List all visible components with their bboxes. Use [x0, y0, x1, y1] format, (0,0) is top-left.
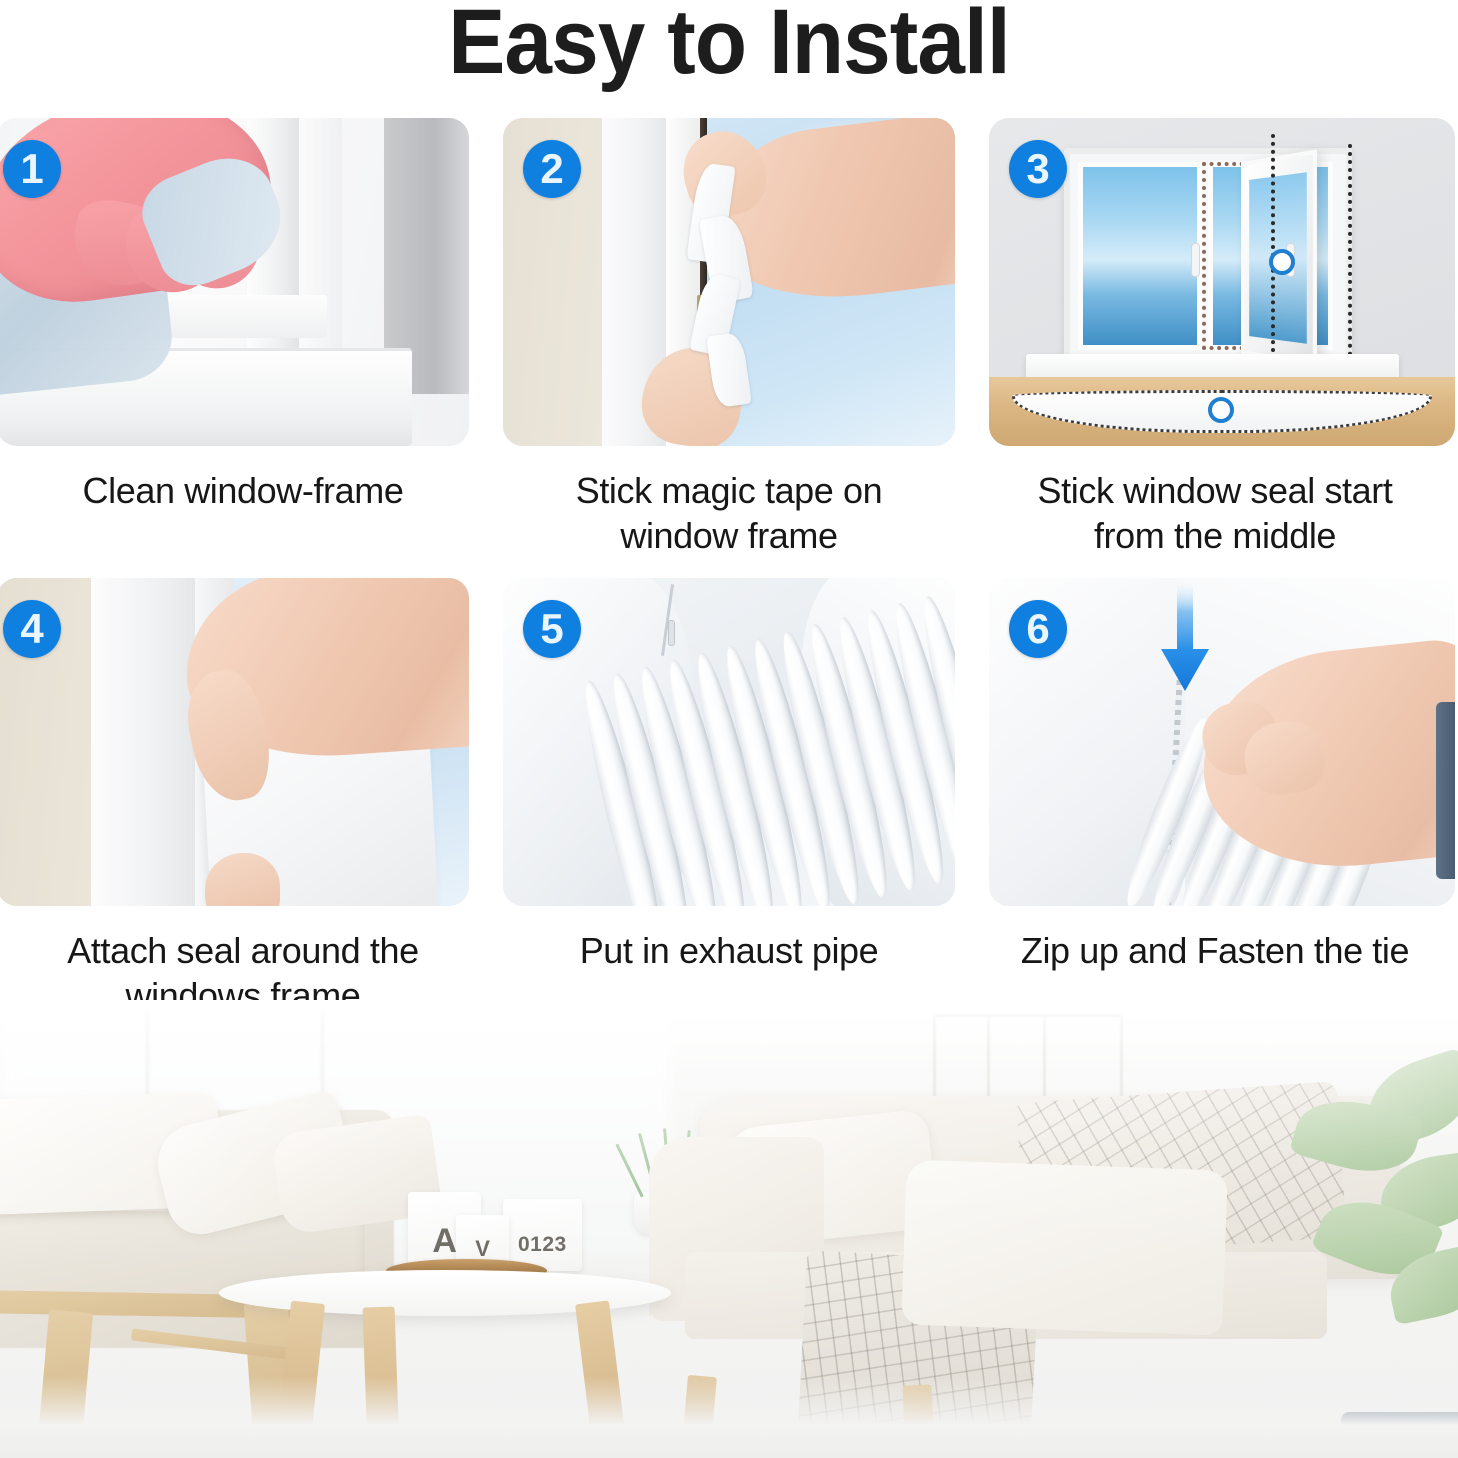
step-5: 5 Put in exhaust pipe: [486, 578, 972, 1019]
hand-pressing-seal-scene: [0, 578, 469, 906]
step-5-badge: 5: [523, 600, 581, 658]
step-3: 3 Stick window seal start from the middl…: [972, 118, 1458, 559]
step-5-caption: Put in exhaust pipe: [509, 928, 949, 973]
step-1-caption: Clean window-frame: [23, 468, 463, 513]
infographic-page: Easy to Install: [0, 0, 1458, 1458]
step-6-caption: Zip up and Fasten the tie: [995, 928, 1435, 973]
step-2-caption: Stick magic tape on window frame: [509, 468, 949, 559]
steps-row-1: 1 Clean window-frame: [0, 118, 1458, 559]
vase-letter: 0123: [503, 1234, 582, 1255]
cushion: [901, 1159, 1227, 1335]
step-1-badge: 1: [3, 140, 61, 198]
page-title: Easy to Install: [51, 0, 1407, 91]
foliage-plant: [1254, 1055, 1458, 1394]
step-4: 4 Attach seal around the windows frame: [0, 578, 486, 1019]
down-arrow-icon: [1157, 581, 1213, 699]
step-2: 2 Stick magic tape on window frame: [486, 118, 972, 559]
step-6-image: 6: [989, 578, 1455, 906]
vase-letter: V: [456, 1238, 508, 1260]
step-1-image: 1: [0, 118, 469, 446]
lifestyle-room-photo: A V 0123: [0, 1000, 1458, 1458]
step-4-badge: 4: [3, 600, 61, 658]
step-3-badge: 3: [1009, 140, 1067, 198]
gloved-hand-wiping-window-frame-scene: [0, 118, 469, 446]
install-steps-grid: 1 Clean window-frame: [0, 118, 1458, 1018]
step-2-badge: 2: [523, 140, 581, 198]
step-3-image: 3: [989, 118, 1455, 446]
steps-row-2: 4 Attach seal around the windows frame: [0, 578, 1458, 1019]
seal-midpoint-marker-sill: [1208, 397, 1234, 423]
step-3-caption: Stick window seal start from the middle: [995, 468, 1435, 559]
step-6-badge: 6: [1009, 600, 1067, 658]
step-6: 6 Zip up and Fasten the tie: [972, 578, 1458, 1019]
zipper-pull-icon: [668, 620, 675, 646]
step-2-image: 2: [503, 118, 955, 446]
step-1: 1 Clean window-frame: [0, 118, 486, 559]
step-4-image: 4: [0, 578, 469, 906]
step-5-image: 5: [503, 578, 955, 906]
seal-midpoint-marker-sash: [1269, 249, 1295, 275]
